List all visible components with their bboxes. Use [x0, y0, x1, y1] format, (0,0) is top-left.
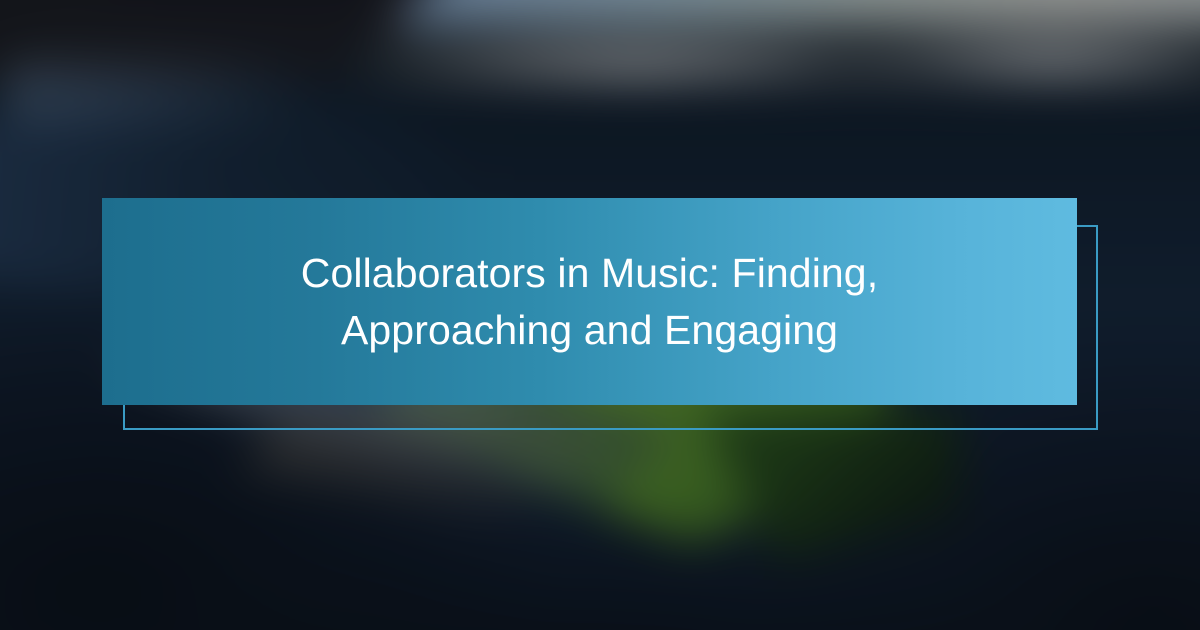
- social-share-card: Collaborators in Music: Finding, Approac…: [0, 0, 1200, 630]
- title-card: Collaborators in Music: Finding, Approac…: [102, 198, 1077, 405]
- page-title: Collaborators in Music: Finding, Approac…: [270, 245, 910, 359]
